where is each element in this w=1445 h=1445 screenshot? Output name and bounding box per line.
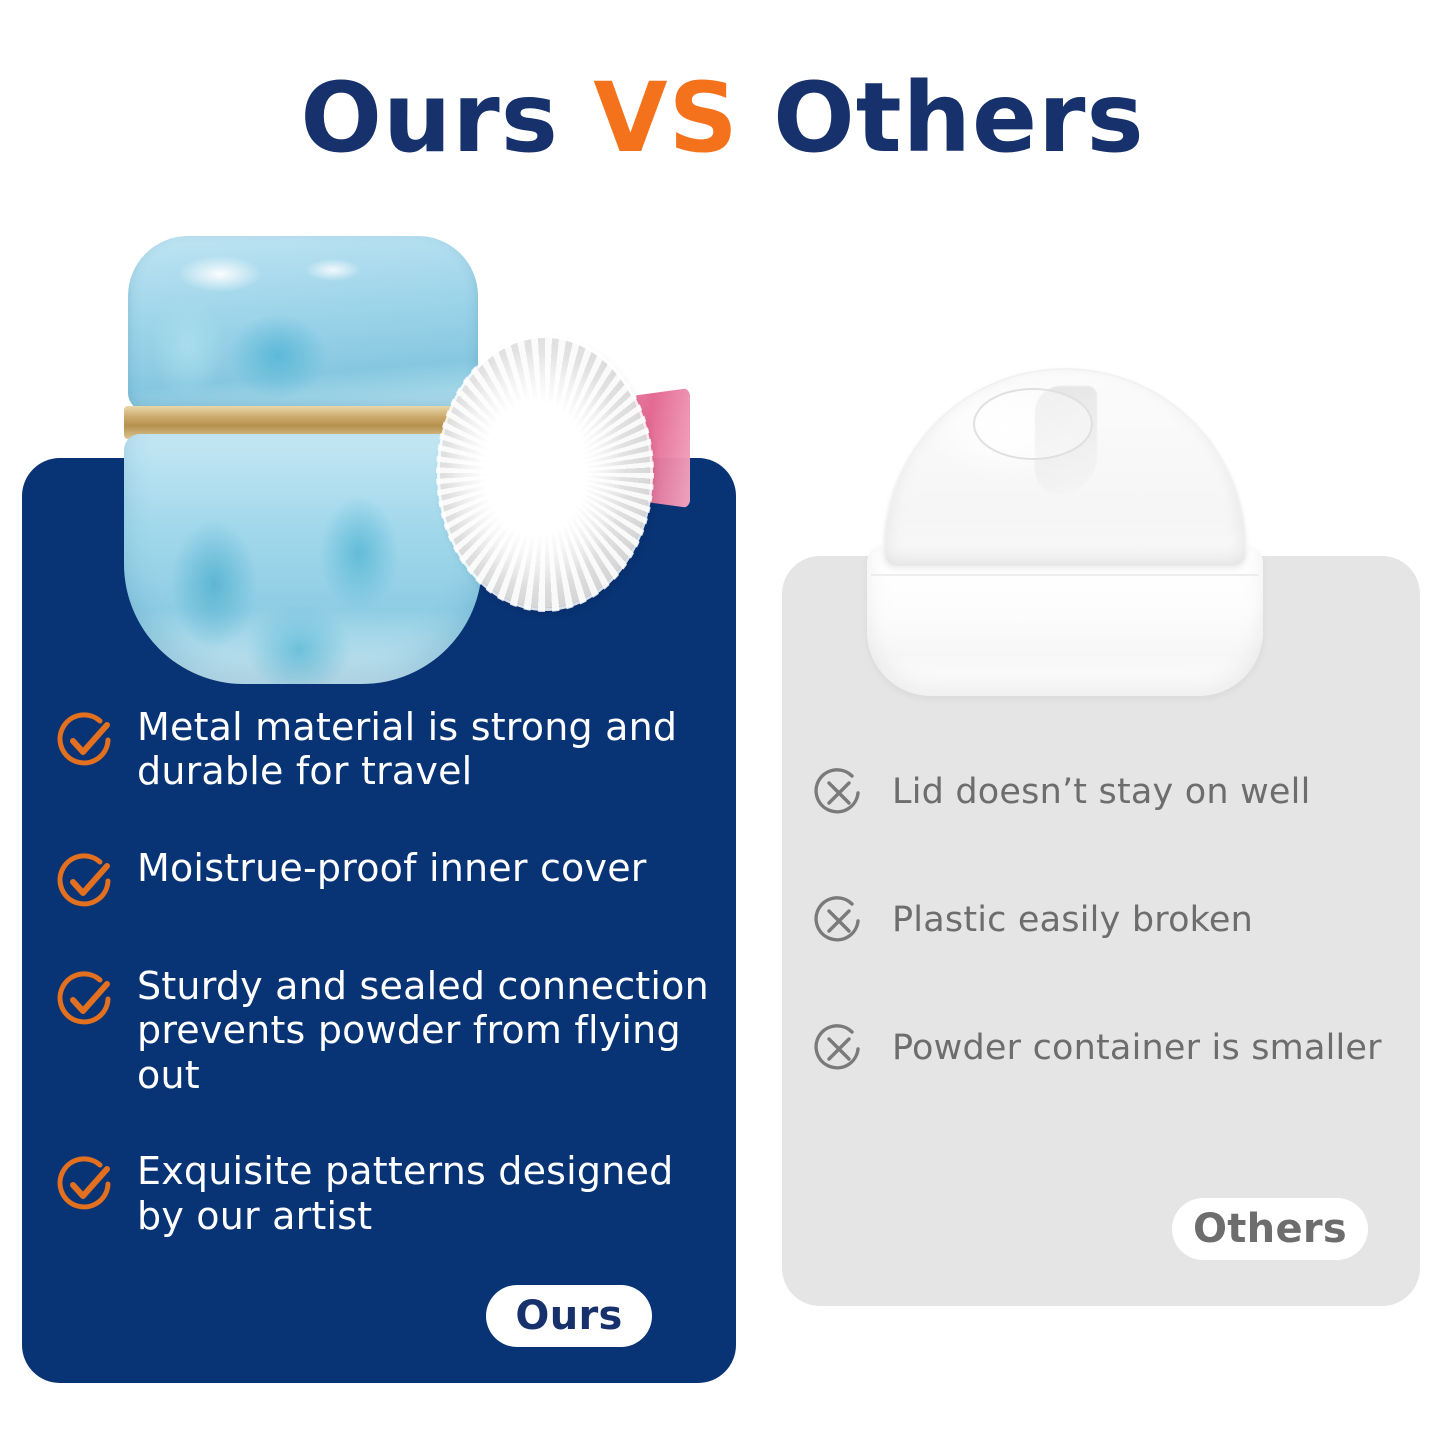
feature-text: Powder container is smaller xyxy=(892,1028,1382,1069)
jar-body-graphic xyxy=(124,434,482,684)
powder-puff-graphic xyxy=(440,338,650,608)
dome-top-circle-graphic xyxy=(973,388,1093,460)
jar-lid-graphic xyxy=(128,236,478,411)
feature-text: Sturdy and sealed connection prevents po… xyxy=(137,964,715,1097)
x-circle-icon xyxy=(812,894,866,948)
list-item: Sturdy and sealed connection prevents po… xyxy=(55,964,715,1097)
list-item: Metal material is strong and durable for… xyxy=(55,705,715,794)
feature-text: Plastic easily broken xyxy=(892,900,1253,941)
check-circle-icon xyxy=(55,1153,117,1215)
others-badge: Others xyxy=(1172,1198,1368,1260)
ours-product-image xyxy=(110,228,710,678)
plastic-base-ridge-graphic xyxy=(871,574,1259,576)
check-circle-icon xyxy=(55,709,117,771)
ours-badge: Ours xyxy=(486,1285,652,1347)
title-others-word: Others xyxy=(773,62,1144,174)
feature-text: Lid doesn’t stay on well xyxy=(892,772,1311,813)
list-item: Plastic easily broken xyxy=(812,894,1412,948)
list-item: Lid doesn’t stay on well xyxy=(812,766,1412,820)
title-ours-word: Ours xyxy=(300,62,558,174)
list-item: Powder container is smaller xyxy=(812,1022,1412,1076)
list-item: Exquisite patterns designed by our artis… xyxy=(55,1149,715,1238)
title-vs-word: VS xyxy=(593,62,738,174)
others-badge-label: Others xyxy=(1193,1206,1347,1252)
feature-text: Moistrue-proof inner cover xyxy=(137,846,647,890)
others-feature-list: Lid doesn’t stay on well Plastic easily … xyxy=(812,766,1412,1076)
x-circle-icon xyxy=(812,766,866,820)
page-title: Ours VS Others xyxy=(0,68,1445,169)
x-circle-icon xyxy=(812,1022,866,1076)
check-circle-icon xyxy=(55,968,117,1030)
list-item: Moistrue-proof inner cover xyxy=(55,846,715,912)
ours-feature-list: Metal material is strong and durable for… xyxy=(55,705,715,1238)
clear-dome-lid-graphic xyxy=(883,368,1247,568)
check-circle-icon xyxy=(55,850,117,912)
ours-badge-label: Ours xyxy=(515,1293,622,1339)
feature-text: Exquisite patterns designed by our artis… xyxy=(137,1149,715,1238)
feature-text: Metal material is strong and durable for… xyxy=(137,705,715,794)
comparison-infographic: Ours VS Others Metal material is st xyxy=(0,0,1445,1445)
others-product-image xyxy=(855,368,1275,708)
plastic-base-graphic xyxy=(867,546,1263,696)
